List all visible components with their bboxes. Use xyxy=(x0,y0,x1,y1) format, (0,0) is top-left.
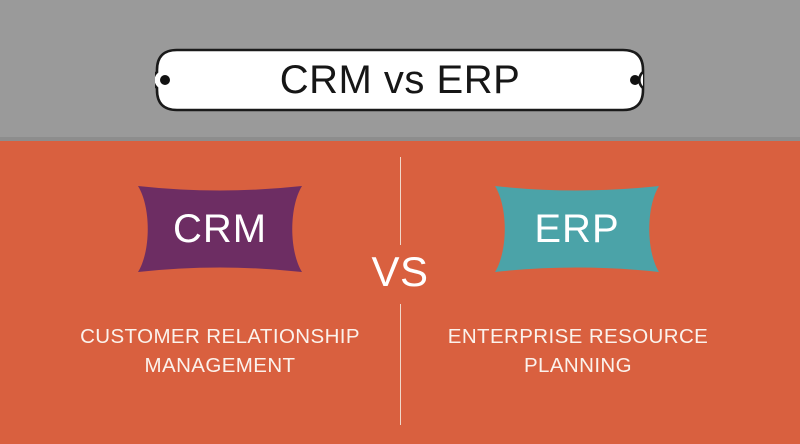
crm-caption-line-2: MANAGEMENT xyxy=(45,351,395,380)
crm-caption: CUSTOMER RELATIONSHIP MANAGEMENT xyxy=(45,322,395,380)
crm-caption-line-1: CUSTOMER RELATIONSHIP xyxy=(45,322,395,351)
versus-label: VS xyxy=(355,248,445,296)
crm-badge-label: CRM xyxy=(137,185,303,273)
infographic-canvas: CRM vs ERP CRM ERP VS CUSTOMER RELATIONS… xyxy=(0,0,800,444)
title-plate: CRM vs ERP xyxy=(155,48,645,112)
divider-line-lower xyxy=(400,304,401,425)
crm-badge: CRM xyxy=(137,185,303,273)
erp-badge-label: ERP xyxy=(494,185,660,273)
page-title: CRM vs ERP xyxy=(155,48,645,112)
divider-line-upper xyxy=(400,157,401,245)
erp-caption: ENTERPRISE RESOURCE PLANNING xyxy=(403,322,753,380)
erp-caption-line-2: PLANNING xyxy=(403,351,753,380)
erp-caption-line-1: ENTERPRISE RESOURCE xyxy=(403,322,753,351)
erp-badge: ERP xyxy=(494,185,660,273)
